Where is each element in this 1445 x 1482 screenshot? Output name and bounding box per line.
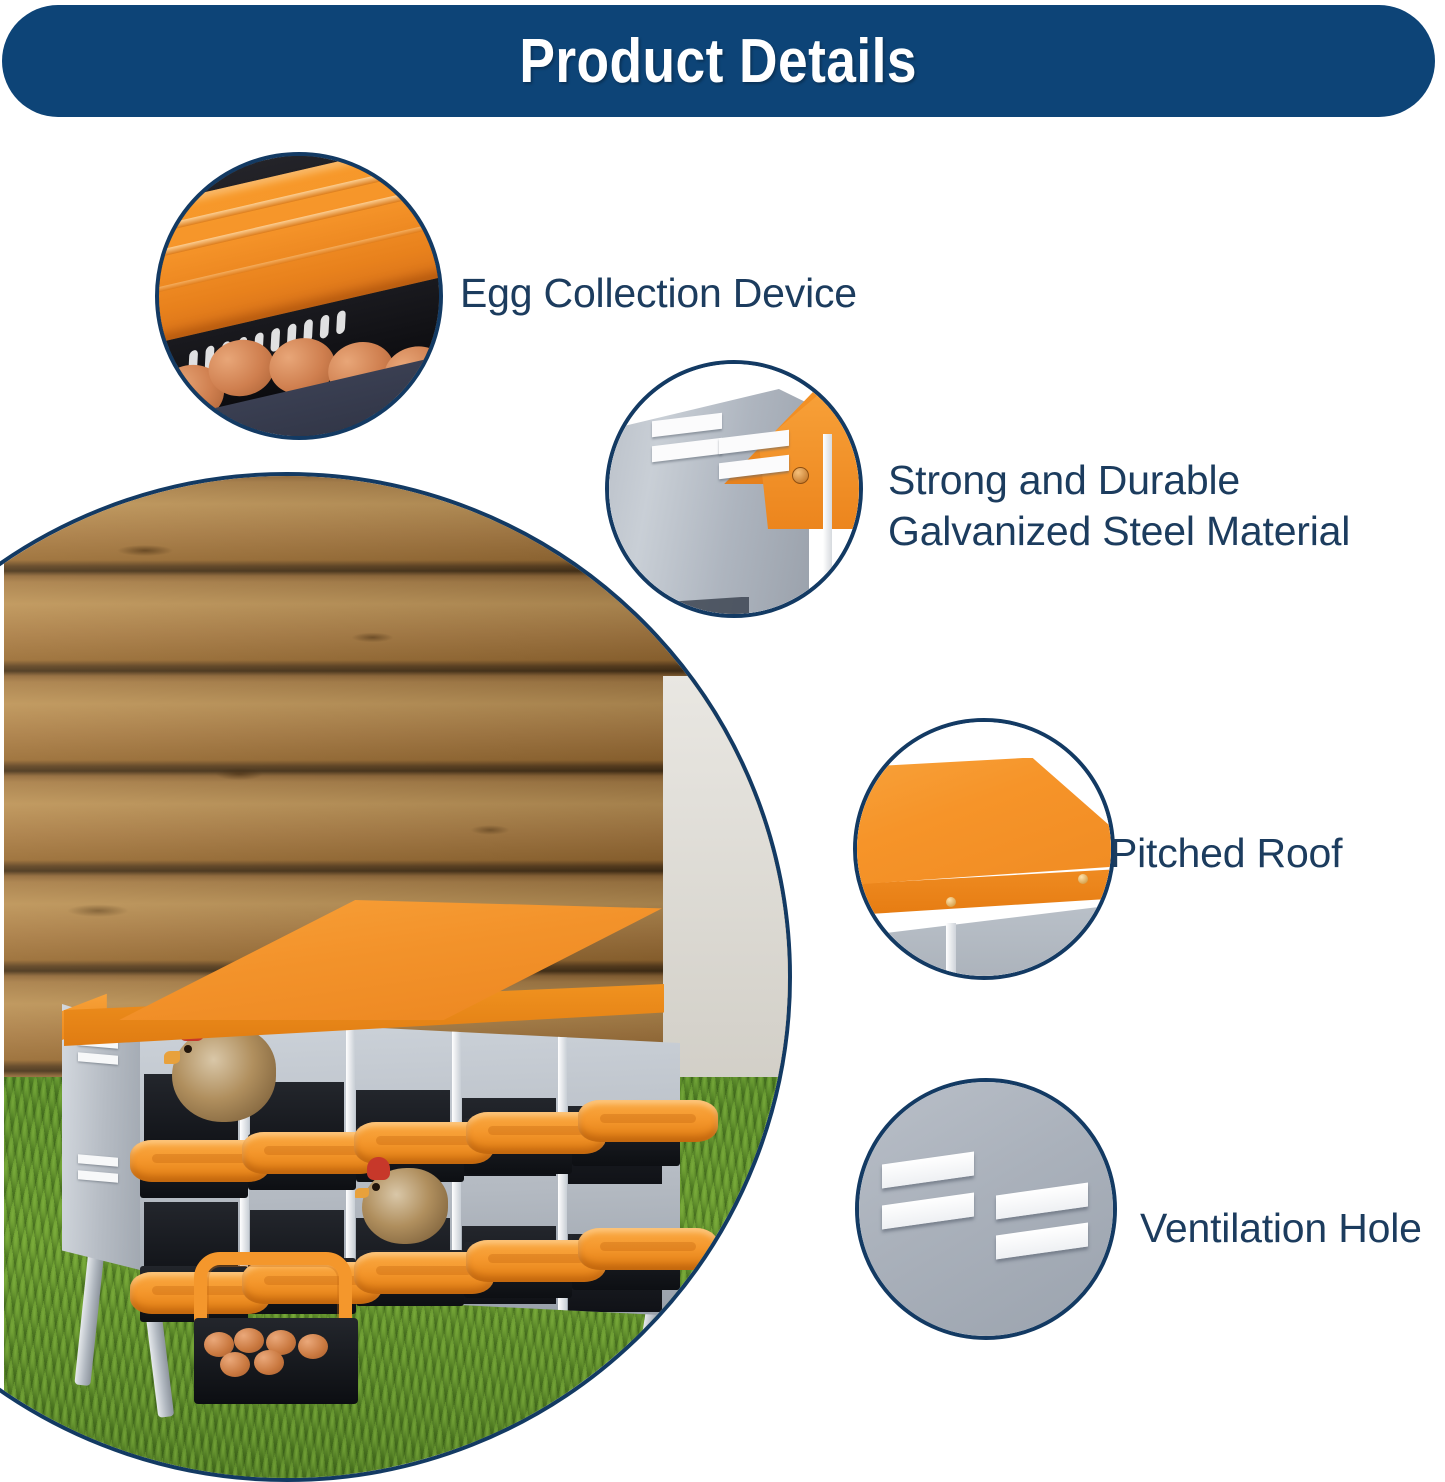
callout-label-galvanized-steel: Strong and Durable Galvanized Steel Mate… (888, 455, 1350, 558)
callout-image-egg-collection (155, 152, 443, 440)
egg-collection-basket (194, 1318, 358, 1404)
corner-post (946, 923, 956, 979)
chicken-beak (164, 1051, 181, 1064)
chicken-beak (355, 1188, 369, 1199)
nesting-box-product (44, 900, 704, 1420)
ventilation-slot (882, 1152, 974, 1189)
ventilation-hole-scene (859, 1082, 1113, 1336)
callout-label-egg-collection: Egg Collection Device (460, 268, 857, 319)
steel-wall (853, 905, 1115, 980)
ventilation-slot (78, 1052, 118, 1064)
roll-out-perch (578, 1100, 718, 1142)
callout-image-pitched-roof (853, 718, 1115, 980)
egg-collection-scene (157, 154, 441, 438)
ventilation-slot (78, 1170, 118, 1182)
ventilation-slot (996, 1182, 1088, 1219)
pitched-roof-scene (857, 722, 1111, 976)
callout-label-ventilation-hole: Ventilation Hole (1140, 1203, 1422, 1254)
screw-icon (792, 467, 809, 484)
roof-corner-orange (996, 1078, 1117, 1179)
chicken-eye (372, 1183, 380, 1191)
chicken-comb (367, 1157, 389, 1180)
corner-post (823, 434, 832, 579)
ventilation-slot (882, 1192, 974, 1229)
page-title: Product Details (520, 26, 918, 97)
callout-label-pitched-roof: Pitched Roof (1110, 828, 1342, 879)
roll-out-perch (578, 1228, 718, 1270)
main-product-scene (4, 476, 788, 1478)
callout-image-ventilation-hole (855, 1078, 1117, 1340)
ventilation-slot (78, 1154, 118, 1166)
ventilation-slot (996, 1223, 1088, 1260)
chicken-eye (184, 1045, 192, 1053)
main-product-photo (0, 472, 792, 1482)
page-header-banner: Product Details (2, 5, 1435, 117)
